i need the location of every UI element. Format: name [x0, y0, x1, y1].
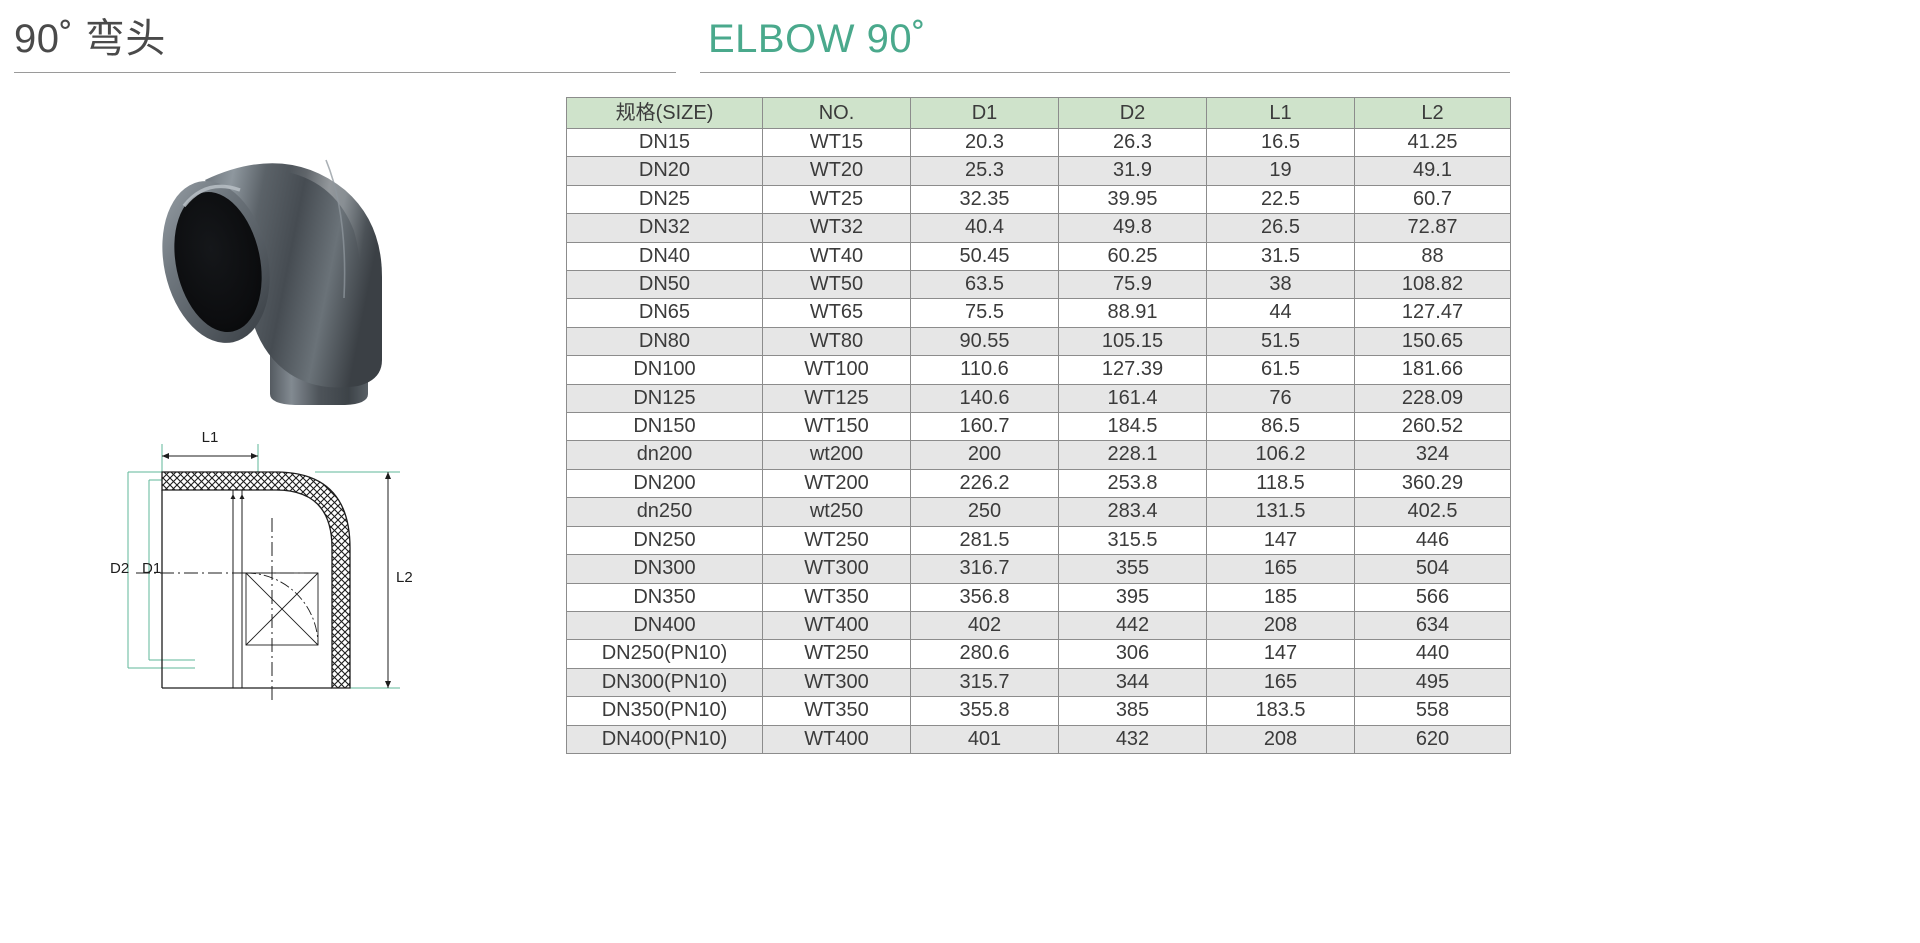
cell-no: WT300 — [763, 555, 911, 583]
cell-d1: 90.55 — [911, 327, 1059, 355]
cell-d2: 315.5 — [1059, 526, 1207, 554]
title-block-chinese: 90˚ 弯头 — [14, 14, 676, 73]
cell-no: WT40 — [763, 242, 911, 270]
cell-l2: 402.5 — [1355, 498, 1511, 526]
cell-size: DN250(PN10) — [567, 640, 763, 668]
table-header-row: 规格(SIZE) NO. D1 D2 L1 L2 — [567, 98, 1511, 129]
column-header-d2: D2 — [1059, 98, 1207, 129]
spec-table-pane: 规格(SIZE) NO. D1 D2 L1 L2 DN15WT1520.326.… — [566, 97, 1510, 754]
cell-l1: 118.5 — [1207, 469, 1355, 497]
product-photo-elbow — [110, 102, 440, 412]
cell-l2: 620 — [1355, 725, 1511, 753]
cell-no: WT350 — [763, 583, 911, 611]
cell-d2: 442 — [1059, 611, 1207, 639]
table-row: DN100WT100110.6127.3961.5181.66 — [567, 356, 1511, 384]
cell-l2: 49.1 — [1355, 157, 1511, 185]
cell-l2: 181.66 — [1355, 356, 1511, 384]
cell-l1: 26.5 — [1207, 214, 1355, 242]
cell-d1: 20.3 — [911, 129, 1059, 157]
table-row: DN15WT1520.326.316.541.25 — [567, 129, 1511, 157]
cell-size: dn250 — [567, 498, 763, 526]
column-header-d1: D1 — [911, 98, 1059, 129]
cell-d2: 26.3 — [1059, 129, 1207, 157]
page-title-chinese: 90˚ 弯头 — [14, 14, 676, 64]
cell-d2: 75.9 — [1059, 271, 1207, 299]
table-row: DN125WT125140.6161.476228.09 — [567, 384, 1511, 412]
cell-l2: 324 — [1355, 441, 1511, 469]
cell-no: WT400 — [763, 611, 911, 639]
cell-d1: 110.6 — [911, 356, 1059, 384]
technical-drawing: L1 D2 D1 L2 — [100, 422, 500, 702]
cell-d1: 356.8 — [911, 583, 1059, 611]
cell-no: WT300 — [763, 668, 911, 696]
cell-size: DN400(PN10) — [567, 725, 763, 753]
table-row: DN200WT200226.2253.8118.5360.29 — [567, 469, 1511, 497]
cell-d2: 228.1 — [1059, 441, 1207, 469]
cell-d1: 402 — [911, 611, 1059, 639]
cell-l2: 440 — [1355, 640, 1511, 668]
cell-l2: 260.52 — [1355, 413, 1511, 441]
dimension-d1: D1 — [142, 480, 195, 660]
table-row: DN300(PN10)WT300315.7344165495 — [567, 668, 1511, 696]
cell-l1: 16.5 — [1207, 129, 1355, 157]
cell-d2: 432 — [1059, 725, 1207, 753]
cell-size: DN100 — [567, 356, 763, 384]
cell-size: DN32 — [567, 214, 763, 242]
cell-d2: 306 — [1059, 640, 1207, 668]
cell-l1: 208 — [1207, 611, 1355, 639]
table-row: DN250WT250281.5315.5147446 — [567, 526, 1511, 554]
page-title-english: ELBOW 90˚ — [700, 14, 1510, 64]
cell-no: WT150 — [763, 413, 911, 441]
cell-d1: 63.5 — [911, 271, 1059, 299]
cell-d1: 32.35 — [911, 185, 1059, 213]
cell-l1: 147 — [1207, 526, 1355, 554]
column-header-size: 规格(SIZE) — [567, 98, 763, 129]
cell-l1: 38 — [1207, 271, 1355, 299]
cell-d1: 140.6 — [911, 384, 1059, 412]
column-header-no: NO. — [763, 98, 911, 129]
cell-d2: 395 — [1059, 583, 1207, 611]
specification-table: 规格(SIZE) NO. D1 D2 L1 L2 DN15WT1520.326.… — [566, 97, 1511, 754]
cell-d1: 355.8 — [911, 697, 1059, 725]
cell-l2: 446 — [1355, 526, 1511, 554]
cell-l1: 165 — [1207, 668, 1355, 696]
cell-l1: 22.5 — [1207, 185, 1355, 213]
cell-d2: 88.91 — [1059, 299, 1207, 327]
cell-no: WT15 — [763, 129, 911, 157]
cell-no: WT50 — [763, 271, 911, 299]
cell-l2: 41.25 — [1355, 129, 1511, 157]
cell-d2: 60.25 — [1059, 242, 1207, 270]
cell-size: dn200 — [567, 441, 763, 469]
cell-d1: 250 — [911, 498, 1059, 526]
cell-no: WT250 — [763, 640, 911, 668]
cell-d1: 280.6 — [911, 640, 1059, 668]
dimension-label-d1: D1 — [142, 560, 161, 577]
cell-no: WT400 — [763, 725, 911, 753]
cell-d2: 31.9 — [1059, 157, 1207, 185]
cell-d2: 355 — [1059, 555, 1207, 583]
elbow-section-wall — [162, 472, 350, 688]
cell-l2: 108.82 — [1355, 271, 1511, 299]
cell-l1: 165 — [1207, 555, 1355, 583]
title-divider-right — [700, 72, 1510, 73]
page-header: 90˚ 弯头 ELBOW 90˚ — [0, 0, 1920, 92]
table-row: DN40WT4050.4560.2531.588 — [567, 242, 1511, 270]
cell-no: WT350 — [763, 697, 911, 725]
elbow-centre-lines — [136, 518, 318, 700]
cell-no: WT25 — [763, 185, 911, 213]
cell-l1: 86.5 — [1207, 413, 1355, 441]
cell-d2: 385 — [1059, 697, 1207, 725]
cell-d1: 226.2 — [911, 469, 1059, 497]
cell-l1: 147 — [1207, 640, 1355, 668]
cell-size: DN400 — [567, 611, 763, 639]
cell-l1: 44 — [1207, 299, 1355, 327]
title-divider-left — [14, 72, 676, 73]
table-row: dn200wt200200228.1106.2324 — [567, 441, 1511, 469]
title-block-english: ELBOW 90˚ — [700, 14, 1510, 73]
table-row: DN350(PN10)WT350355.8385183.5558 — [567, 697, 1511, 725]
dimension-label-d2: D2 — [110, 560, 129, 577]
cell-size: DN350(PN10) — [567, 697, 763, 725]
cell-l1: 61.5 — [1207, 356, 1355, 384]
cell-no: WT80 — [763, 327, 911, 355]
cell-l1: 183.5 — [1207, 697, 1355, 725]
table-row: DN20WT2025.331.91949.1 — [567, 157, 1511, 185]
cell-l2: 228.09 — [1355, 384, 1511, 412]
cell-l1: 131.5 — [1207, 498, 1355, 526]
cell-d1: 25.3 — [911, 157, 1059, 185]
cell-d1: 160.7 — [911, 413, 1059, 441]
cell-d2: 127.39 — [1059, 356, 1207, 384]
cell-size: DN50 — [567, 271, 763, 299]
table-row: DN250(PN10)WT250280.6306147440 — [567, 640, 1511, 668]
cell-size: DN40 — [567, 242, 763, 270]
cell-size: DN20 — [567, 157, 763, 185]
column-header-l2: L2 — [1355, 98, 1511, 129]
cell-l2: 566 — [1355, 583, 1511, 611]
table-row: dn250wt250250283.4131.5402.5 — [567, 498, 1511, 526]
dimension-l1: L1 — [162, 429, 258, 474]
cell-d1: 75.5 — [911, 299, 1059, 327]
cell-d1: 316.7 — [911, 555, 1059, 583]
cell-size: DN300(PN10) — [567, 668, 763, 696]
table-row: DN150WT150160.7184.586.5260.52 — [567, 413, 1511, 441]
cell-no: WT125 — [763, 384, 911, 412]
cell-d2: 161.4 — [1059, 384, 1207, 412]
cell-d2: 344 — [1059, 668, 1207, 696]
table-row: DN400WT400402442208634 — [567, 611, 1511, 639]
cell-l1: 208 — [1207, 725, 1355, 753]
cell-l1: 185 — [1207, 583, 1355, 611]
cell-l2: 634 — [1355, 611, 1511, 639]
cell-l2: 72.87 — [1355, 214, 1511, 242]
cell-d2: 49.8 — [1059, 214, 1207, 242]
dimension-label-l2: L2 — [396, 569, 413, 586]
cell-no: WT200 — [763, 469, 911, 497]
cell-size: DN300 — [567, 555, 763, 583]
cell-d2: 39.95 — [1059, 185, 1207, 213]
table-header: 规格(SIZE) NO. D1 D2 L1 L2 — [567, 98, 1511, 129]
table-row: DN80WT8090.55105.1551.5150.65 — [567, 327, 1511, 355]
cell-d1: 50.45 — [911, 242, 1059, 270]
cell-d1: 315.7 — [911, 668, 1059, 696]
cell-size: DN150 — [567, 413, 763, 441]
cell-l2: 504 — [1355, 555, 1511, 583]
cell-d1: 200 — [911, 441, 1059, 469]
cell-l2: 150.65 — [1355, 327, 1511, 355]
table-body: DN15WT1520.326.316.541.25DN20WT2025.331.… — [567, 129, 1511, 754]
cell-l2: 88 — [1355, 242, 1511, 270]
cell-l1: 31.5 — [1207, 242, 1355, 270]
table-row: DN400(PN10)WT400401432208620 — [567, 725, 1511, 753]
cell-no: WT100 — [763, 356, 911, 384]
cell-d2: 253.8 — [1059, 469, 1207, 497]
cell-l2: 495 — [1355, 668, 1511, 696]
table-row: DN25WT2532.3539.9522.560.7 — [567, 185, 1511, 213]
cell-l1: 76 — [1207, 384, 1355, 412]
cell-l2: 127.47 — [1355, 299, 1511, 327]
cell-d2: 184.5 — [1059, 413, 1207, 441]
cell-d1: 281.5 — [911, 526, 1059, 554]
cell-l2: 60.7 — [1355, 185, 1511, 213]
cell-size: DN25 — [567, 185, 763, 213]
cell-size: DN250 — [567, 526, 763, 554]
cell-no: wt250 — [763, 498, 911, 526]
cell-l1: 106.2 — [1207, 441, 1355, 469]
cell-l1: 19 — [1207, 157, 1355, 185]
cell-d2: 283.4 — [1059, 498, 1207, 526]
dimension-label-l1: L1 — [202, 429, 219, 446]
cell-l1: 51.5 — [1207, 327, 1355, 355]
cell-no: WT20 — [763, 157, 911, 185]
cell-d1: 40.4 — [911, 214, 1059, 242]
cell-size: DN15 — [567, 129, 763, 157]
cell-d1: 401 — [911, 725, 1059, 753]
cell-no: WT32 — [763, 214, 911, 242]
cell-size: DN200 — [567, 469, 763, 497]
table-row: DN65WT6575.588.9144127.47 — [567, 299, 1511, 327]
column-header-l1: L1 — [1207, 98, 1355, 129]
table-row: DN350WT350356.8395185566 — [567, 583, 1511, 611]
cell-no: WT65 — [763, 299, 911, 327]
cell-size: DN125 — [567, 384, 763, 412]
cell-d2: 105.15 — [1059, 327, 1207, 355]
cell-size: DN350 — [567, 583, 763, 611]
table-row: DN32WT3240.449.826.572.87 — [567, 214, 1511, 242]
cell-no: wt200 — [763, 441, 911, 469]
elbow-section-inner-lines — [162, 490, 332, 688]
cell-l2: 360.29 — [1355, 469, 1511, 497]
elbow-construction-geometry — [246, 573, 318, 645]
table-row: DN300WT300316.7355165504 — [567, 555, 1511, 583]
cell-l2: 558 — [1355, 697, 1511, 725]
cell-size: DN80 — [567, 327, 763, 355]
cell-no: WT250 — [763, 526, 911, 554]
table-row: DN50WT5063.575.938108.82 — [567, 271, 1511, 299]
cell-size: DN65 — [567, 299, 763, 327]
